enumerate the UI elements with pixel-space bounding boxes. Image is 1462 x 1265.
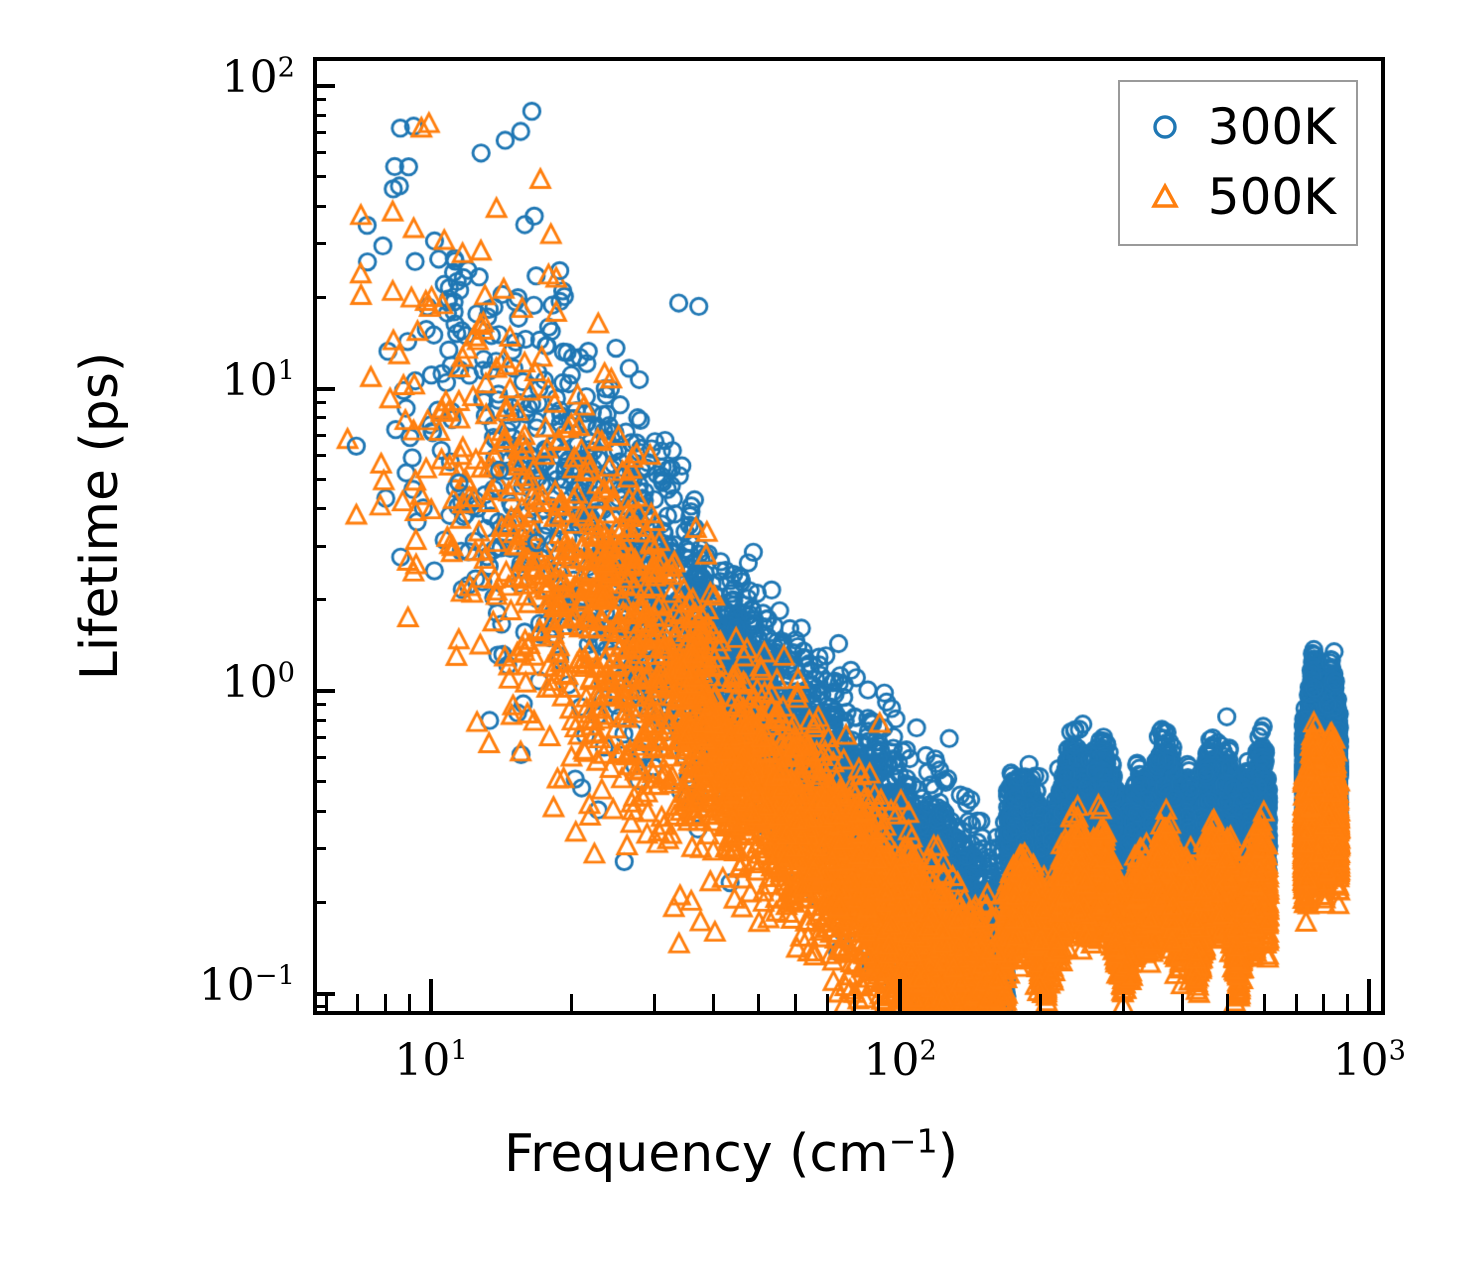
y-tick-minor [313,131,326,134]
y-tick-label-0: 10−1 [199,964,295,1008]
y-tick-minor [313,736,326,739]
y-tick-label-2: 101 [222,359,295,403]
x-tick-major-1e1 [429,979,433,1015]
x-tick-minor [1039,994,1042,1015]
x-tick-minor [877,994,880,1015]
y-tick-major-1e2 [313,84,335,88]
y-tick-major-1e0 [313,689,335,693]
x-axis-title-exponent: −1 [889,1122,938,1161]
y-tick-minor [313,1005,326,1008]
x-tick-minor [826,994,829,1015]
y-tick-label-3: 102 [222,56,295,100]
y-tick-minor [313,98,326,101]
x-axis-title-base: Frequency (cm [504,1124,889,1184]
y-tick-minor [313,847,326,850]
y-tick-major-1e-1 [313,992,335,996]
y-tick-minor [313,454,326,457]
x-tick-minor [1322,994,1325,1015]
x-axis-title-tail: ) [938,1124,958,1184]
y-tick-minor [313,434,326,437]
y-tick-minor [313,598,326,601]
triangle-marker-icon [1136,180,1194,214]
legend-item-500k[interactable]: 500K [1136,162,1340,232]
x-tick-minor [408,994,411,1015]
y-tick-minor [313,416,326,419]
y-tick-minor [313,478,326,481]
x-tick-minor [1226,994,1229,1015]
y-tick-minor [313,901,326,904]
chart-legend: 300K 500K [1118,80,1358,246]
y-tick-minor [313,401,326,404]
y-tick-minor [313,205,326,208]
x-tick-minor [570,994,573,1015]
legend-label-500k: 500K [1194,168,1340,226]
x-tick-minor [325,994,328,1015]
x-tick-major-1e2 [898,979,902,1015]
x-tick-minor [1263,994,1266,1015]
y-tick-minor [313,114,326,117]
y-tick-minor [313,507,326,510]
y-tick-minor [313,296,326,299]
y-tick-minor [313,545,326,548]
x-axis-title: Frequency (cm−1) [0,1124,1462,1184]
x-tick-minor [653,994,656,1015]
x-tick-minor [1346,994,1349,1015]
x-tick-label-0: 101 [394,1039,467,1083]
legend-item-300k[interactable]: 300K [1136,92,1340,162]
x-tick-label-2: 103 [1333,1039,1406,1083]
x-tick-minor [384,994,387,1015]
y-tick-label-1: 100 [222,661,295,705]
y-tick-minor [313,780,326,783]
phonon-lifetime-figure: 10−1100101102101102103 Frequency (cm−1) … [0,0,1462,1265]
legend-label-300k: 300K [1194,98,1340,156]
y-tick-minor [313,719,326,722]
circle-marker-icon [1136,110,1194,144]
y-tick-minor [313,242,326,245]
y-tick-minor [313,810,326,813]
y-tick-minor [313,703,326,706]
x-tick-minor [853,994,856,1015]
y-tick-minor [313,151,326,154]
x-tick-minor [712,994,715,1015]
x-tick-minor [1181,994,1184,1015]
y-tick-major-1e1 [313,387,335,391]
x-tick-minor [356,994,359,1015]
x-tick-minor [1122,994,1125,1015]
x-tick-major-1e3 [1367,979,1371,1015]
y-axis-title: Lifetime (ps) [70,16,130,1016]
x-tick-minor [1295,994,1298,1015]
y-tick-minor [313,175,326,178]
x-tick-minor [757,994,760,1015]
x-tick-minor [794,994,797,1015]
y-tick-minor [313,756,326,759]
x-tick-label-1: 102 [864,1039,937,1083]
